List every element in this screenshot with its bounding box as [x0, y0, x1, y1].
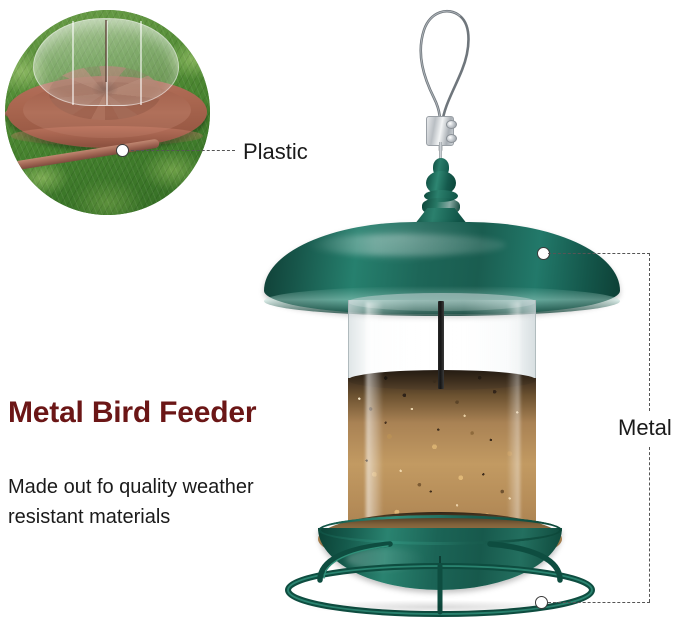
ground-shadow [300, 600, 570, 614]
clamp-screw-bottom [446, 134, 457, 143]
dome-rib-left [72, 21, 74, 105]
plastic-leader-line [131, 150, 235, 151]
product-infographic: Plastic [0, 0, 679, 617]
metal-callout-dot-perch [535, 596, 548, 609]
center-rod [438, 301, 444, 389]
metal-bracket-vertical-lower [649, 447, 650, 602]
callout-label-metal: Metal [618, 415, 672, 441]
product-description: Made out fo quality weather resistant ma… [8, 472, 308, 532]
callout-label-plastic: Plastic [243, 139, 308, 165]
tube-highlight-right [508, 302, 520, 546]
metal-bracket-top-line [548, 253, 650, 254]
tube-highlight-left [366, 302, 382, 546]
clamp-screw-top [446, 120, 457, 129]
metal-bracket-vertical-upper [649, 253, 650, 411]
finial-knob [421, 158, 461, 216]
plastic-feeder-rod [105, 20, 107, 82]
plastic-callout-dot [116, 144, 129, 157]
inset-plastic-feeder-photo [5, 10, 210, 215]
page-title: Metal Bird Feeder [8, 396, 256, 430]
dome-rib-right [140, 21, 142, 105]
roof-highlight [306, 234, 506, 256]
metal-bracket-bottom-line [548, 602, 650, 603]
plastic-tray-lip [11, 126, 203, 146]
